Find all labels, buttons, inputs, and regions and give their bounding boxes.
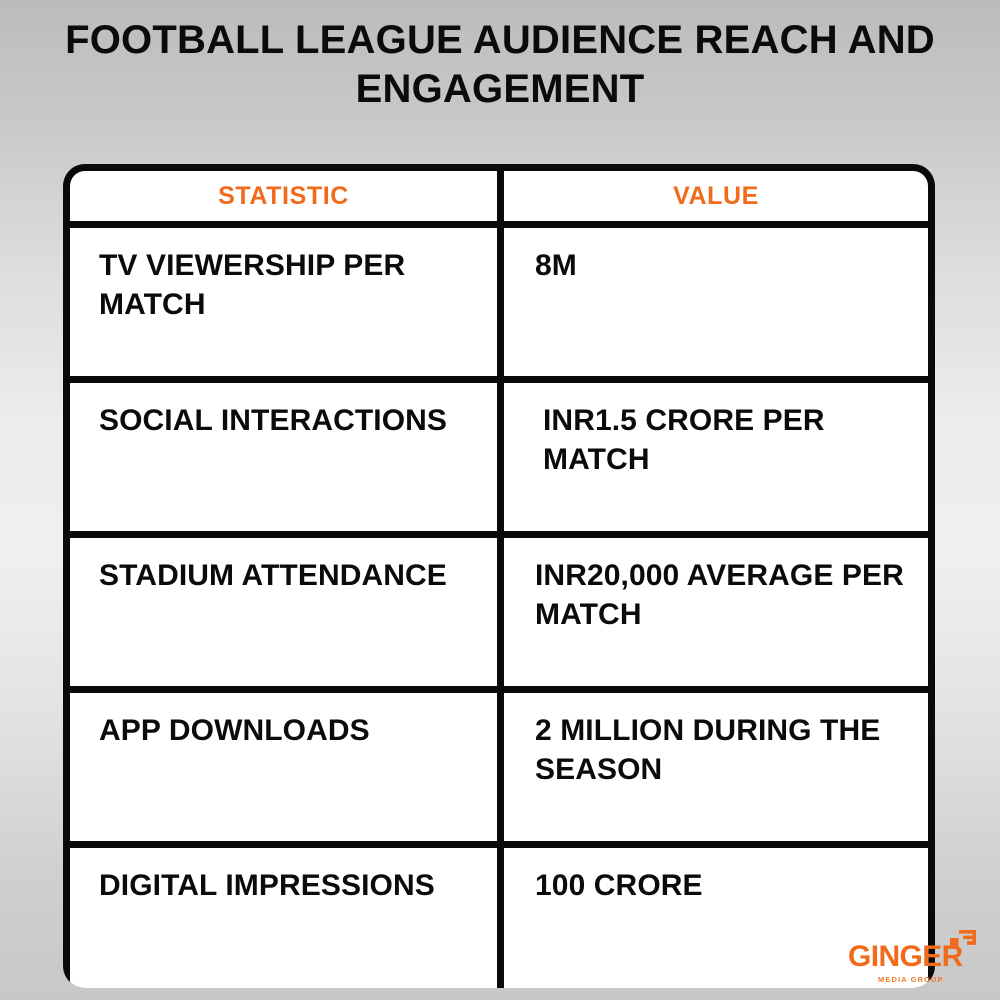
cell-statistic: TV VIEWERSHIP PER MATCH <box>70 228 497 376</box>
ginger-media-group-logo: GINGER MEDIA GROUP <box>848 930 978 986</box>
value-label: INR1.5 CRORE PER MATCH <box>533 401 914 479</box>
statistic-label: SOCIAL INTERACTIONS <box>99 401 483 440</box>
cell-value: INR20,000 AVERAGE PER MATCH <box>504 538 928 686</box>
statistic-label: APP DOWNLOADS <box>99 711 483 750</box>
statistic-label: DIGITAL IMPRESSIONS <box>99 866 483 905</box>
table-row: TV VIEWERSHIP PER MATCH 8M <box>70 228 928 376</box>
value-label: 8M <box>533 246 914 285</box>
column-header-value: VALUE <box>504 171 928 221</box>
column-header-statistic-label: STATISTIC <box>218 182 349 211</box>
value-label: 100 CRORE <box>533 866 914 905</box>
column-header-statistic: STATISTIC <box>70 171 497 221</box>
value-label: 2 MILLION DURING THE SEASON <box>533 711 914 789</box>
cell-statistic: DIGITAL IMPRESSIONS <box>70 848 497 988</box>
table-row: APP DOWNLOADS 2 MILLION DURING THE SEASO… <box>70 693 928 841</box>
table-row: STADIUM ATTENDANCE INR20,000 AVERAGE PER… <box>70 538 928 686</box>
logo-tagline: MEDIA GROUP <box>878 976 944 984</box>
cell-statistic: SOCIAL INTERACTIONS <box>70 383 497 531</box>
page-title: FOOTBALL LEAGUE AUDIENCE REACH AND ENGAG… <box>60 16 940 114</box>
table-row: DIGITAL IMPRESSIONS 100 CRORE <box>70 848 928 988</box>
statistic-label: STADIUM ATTENDANCE <box>99 556 483 595</box>
cell-value: 8M <box>504 228 928 376</box>
cell-value: 2 MILLION DURING THE SEASON <box>504 693 928 841</box>
statistics-table: STATISTIC VALUE TV VIEWERSHIP PER MATCH … <box>63 164 935 988</box>
table-row: SOCIAL INTERACTIONS INR1.5 CRORE PER MAT… <box>70 383 928 531</box>
column-header-value-label: VALUE <box>673 182 759 211</box>
statistic-label: TV VIEWERSHIP PER MATCH <box>99 246 483 324</box>
table-header-row: STATISTIC VALUE <box>70 171 928 221</box>
cell-statistic: APP DOWNLOADS <box>70 693 497 841</box>
cell-statistic: STADIUM ATTENDANCE <box>70 538 497 686</box>
value-label: INR20,000 AVERAGE PER MATCH <box>533 556 914 634</box>
logo-wordmark: GINGER <box>848 942 963 972</box>
cell-value: INR1.5 CRORE PER MATCH <box>504 383 928 531</box>
ginger-bars-mark-icon <box>950 930 976 956</box>
